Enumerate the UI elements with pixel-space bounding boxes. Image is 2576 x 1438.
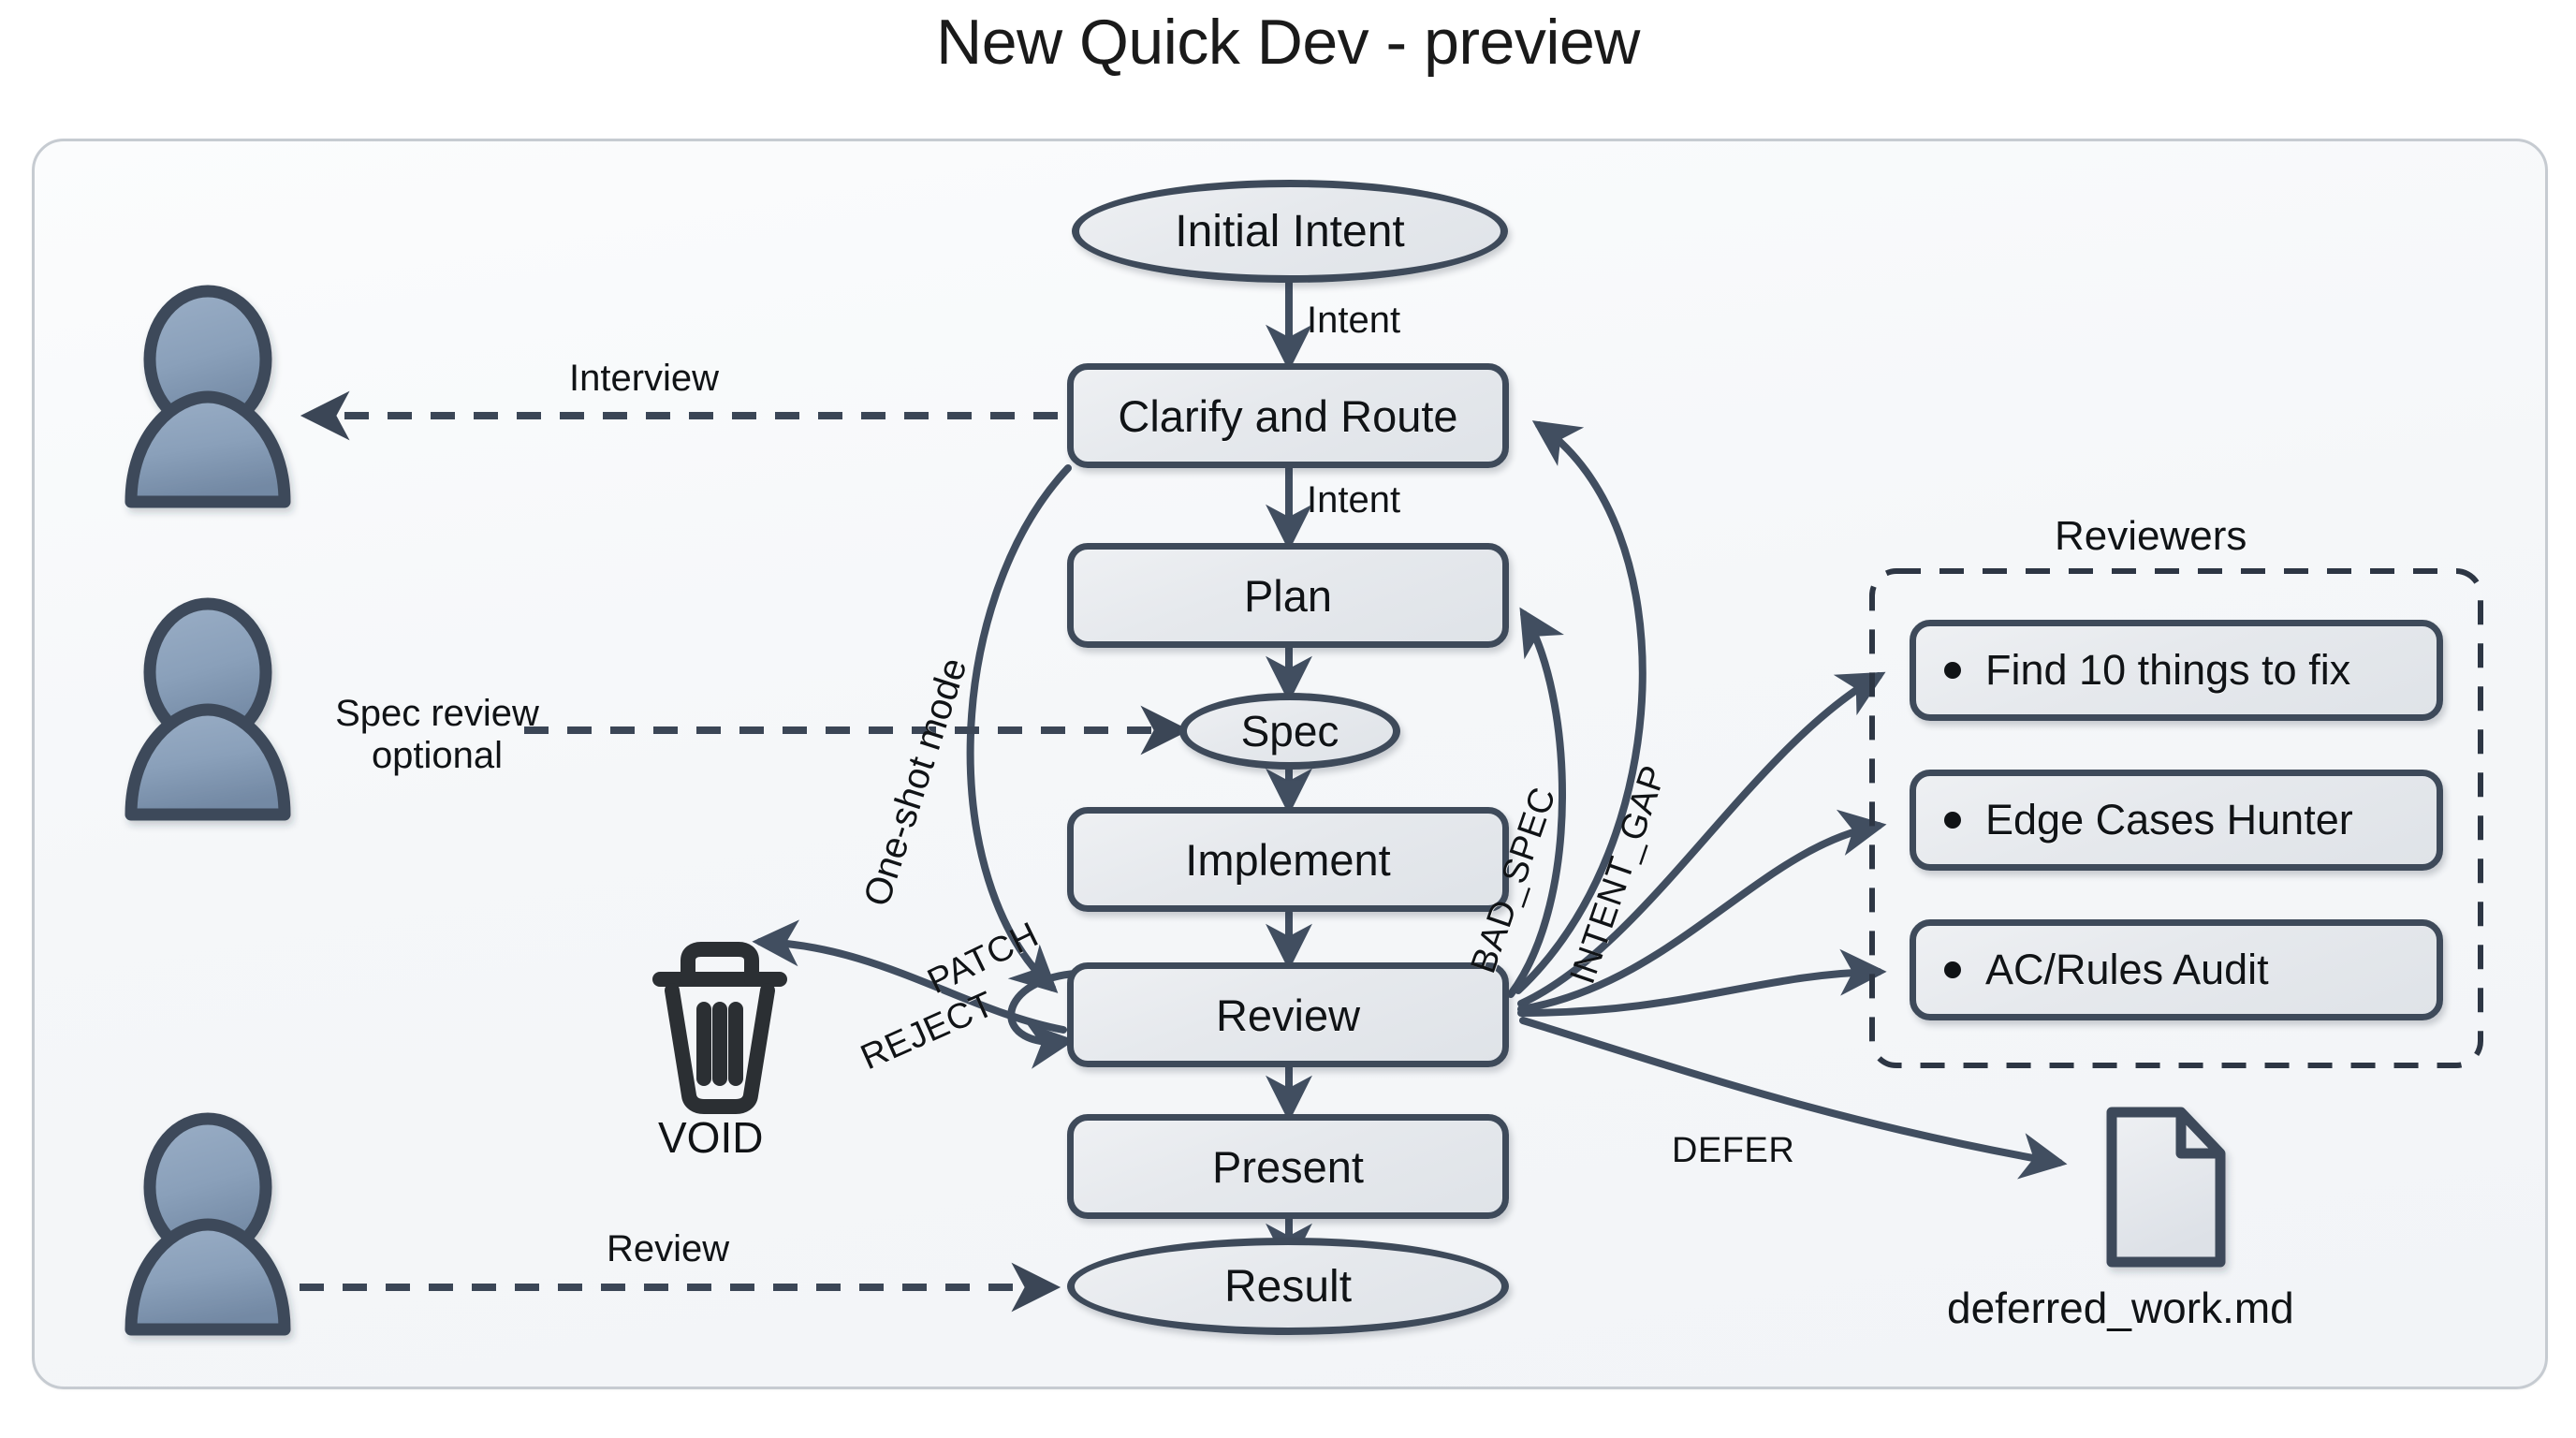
- spec-review-line-1: Spec review: [335, 693, 539, 734]
- diagram-canvas: New Quick Dev - preview: [0, 0, 2576, 1438]
- reviewer-item-ac-rules-audit[interactable]: AC/Rules Audit: [1910, 919, 2443, 1020]
- node-label: Present: [1212, 1141, 1364, 1193]
- flow-node-plan[interactable]: Plan: [1067, 543, 1509, 648]
- bullet-dot-icon: [1944, 812, 1961, 829]
- bullet-dot-icon: [1944, 961, 1961, 978]
- flow-node-implement[interactable]: Implement: [1067, 807, 1509, 912]
- edge-label-spec-review-optional: Spec review optional: [301, 693, 573, 777]
- flow-node-spec[interactable]: Spec: [1179, 693, 1400, 770]
- node-label: Result: [1224, 1261, 1352, 1313]
- node-label: Initial Intent: [1175, 206, 1404, 257]
- void-caption: VOID: [658, 1112, 763, 1163]
- edge-label-intent-1: Intent: [1307, 300, 1400, 342]
- flow-node-initial-intent[interactable]: Initial Intent: [1072, 180, 1508, 283]
- bullet-dot-icon: [1944, 662, 1961, 679]
- flow-node-clarify-and-route[interactable]: Clarify and Route: [1067, 363, 1509, 468]
- edge-label-defer: DEFER: [1672, 1131, 1794, 1171]
- page-title: New Quick Dev - preview: [0, 6, 2576, 79]
- reviewer-item-find-10-things-to-fix[interactable]: Find 10 things to fix: [1910, 620, 2443, 721]
- node-label: Implement: [1185, 834, 1390, 886]
- reviewer-label: Edge Cases Hunter: [1985, 796, 2353, 844]
- node-label: Plan: [1244, 570, 1332, 622]
- spec-review-line-2: optional: [372, 735, 503, 776]
- node-label: Clarify and Route: [1118, 390, 1457, 442]
- edge-label-intent-2: Intent: [1307, 479, 1400, 521]
- flow-node-review[interactable]: Review: [1067, 962, 1509, 1067]
- edge-label-review-actor: Review: [607, 1228, 729, 1270]
- flow-node-present[interactable]: Present: [1067, 1114, 1509, 1219]
- reviewers-group-title: Reviewers: [2055, 513, 2247, 560]
- reviewer-item-edge-cases-hunter[interactable]: Edge Cases Hunter: [1910, 770, 2443, 871]
- node-label: Spec: [1241, 706, 1339, 756]
- flow-node-result[interactable]: Result: [1067, 1238, 1509, 1335]
- node-label: Review: [1216, 990, 1360, 1041]
- edge-label-interview: Interview: [569, 358, 719, 400]
- reviewer-label: AC/Rules Audit: [1985, 946, 2269, 994]
- reviewer-label: Find 10 things to fix: [1985, 646, 2350, 695]
- deferred-work-caption: deferred_work.md: [1947, 1283, 2294, 1333]
